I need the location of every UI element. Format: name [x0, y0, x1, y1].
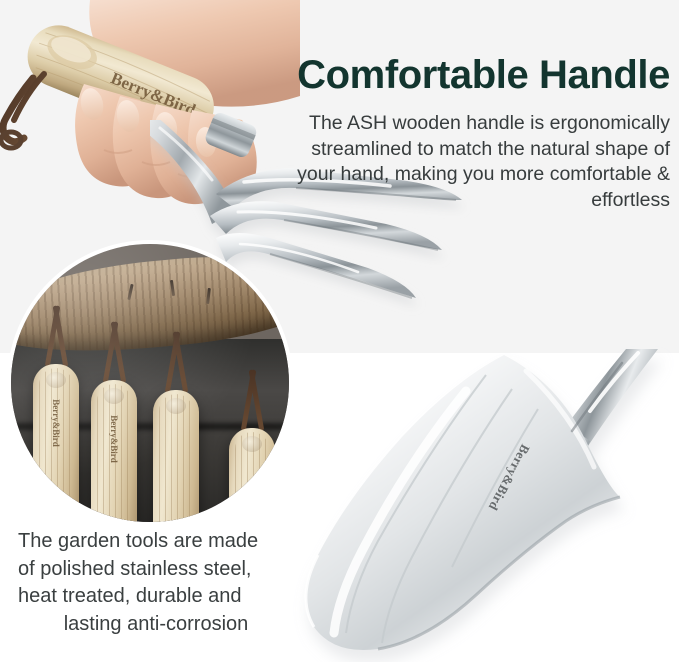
material-description-block: The garden tools are made of polished st…	[18, 528, 294, 638]
page-headline: Comfortable Handle	[286, 51, 670, 99]
material-line-4: lasting anti-corrosion	[18, 611, 294, 639]
product-infographic: Berry&Bird	[0, 0, 679, 662]
hanging-handles-circle-photo: Berry&Bird Berry&Bird	[11, 244, 289, 522]
handle-brand-engraving: Berry&Bird	[51, 399, 61, 447]
headline-subcopy: The ASH wooden handle is ergonomically s…	[276, 111, 670, 213]
material-line-2: of polished stainless steel,	[18, 556, 294, 584]
material-line-1: The garden tools are made	[18, 528, 294, 556]
handle-brand-engraving: Berry&Bird	[109, 415, 119, 463]
material-line-3: heat treated, durable and	[18, 583, 294, 611]
